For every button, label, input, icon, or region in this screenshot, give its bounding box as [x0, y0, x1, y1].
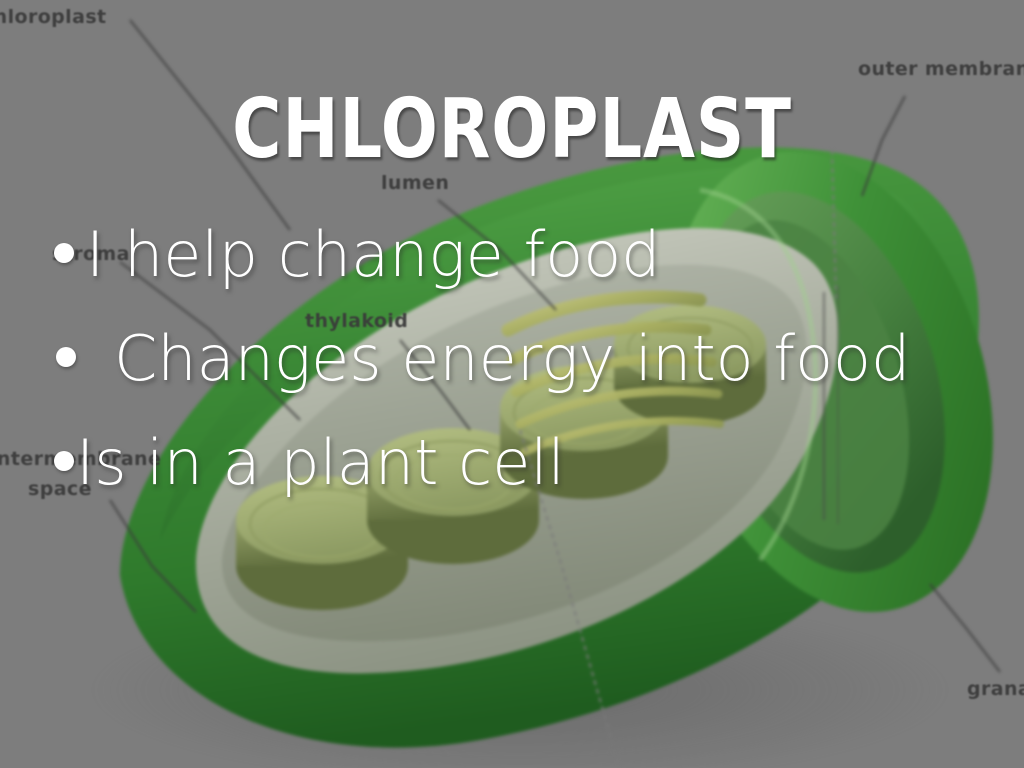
bullet-text: Changes energy into food [114, 307, 910, 411]
presentation-slide: chloroplast lumen stroma thylakoid outer… [0, 0, 1024, 768]
bullet-dot-icon [54, 451, 74, 471]
bullet-item: I help change food [36, 203, 1011, 307]
diagram-label-grana: grana [967, 678, 1024, 700]
diagram-label-chloroplast: chloroplast [0, 6, 107, 28]
bullet-item: Changes energy into food [36, 307, 1011, 411]
bullet-item: Is in a plant cell [36, 411, 1011, 515]
slide-bullet-list: I help change food Changes energy into f… [36, 203, 1011, 515]
bullet-text: I help change food [86, 203, 661, 307]
bullet-text: Is in a plant cell [76, 411, 565, 515]
diagram-label-outer-membrane: outer membrane [858, 58, 1024, 80]
slide-title: CHLOROPLAST [92, 87, 932, 173]
bullet-dot-icon [54, 243, 74, 263]
bullet-dot-icon [56, 347, 76, 367]
